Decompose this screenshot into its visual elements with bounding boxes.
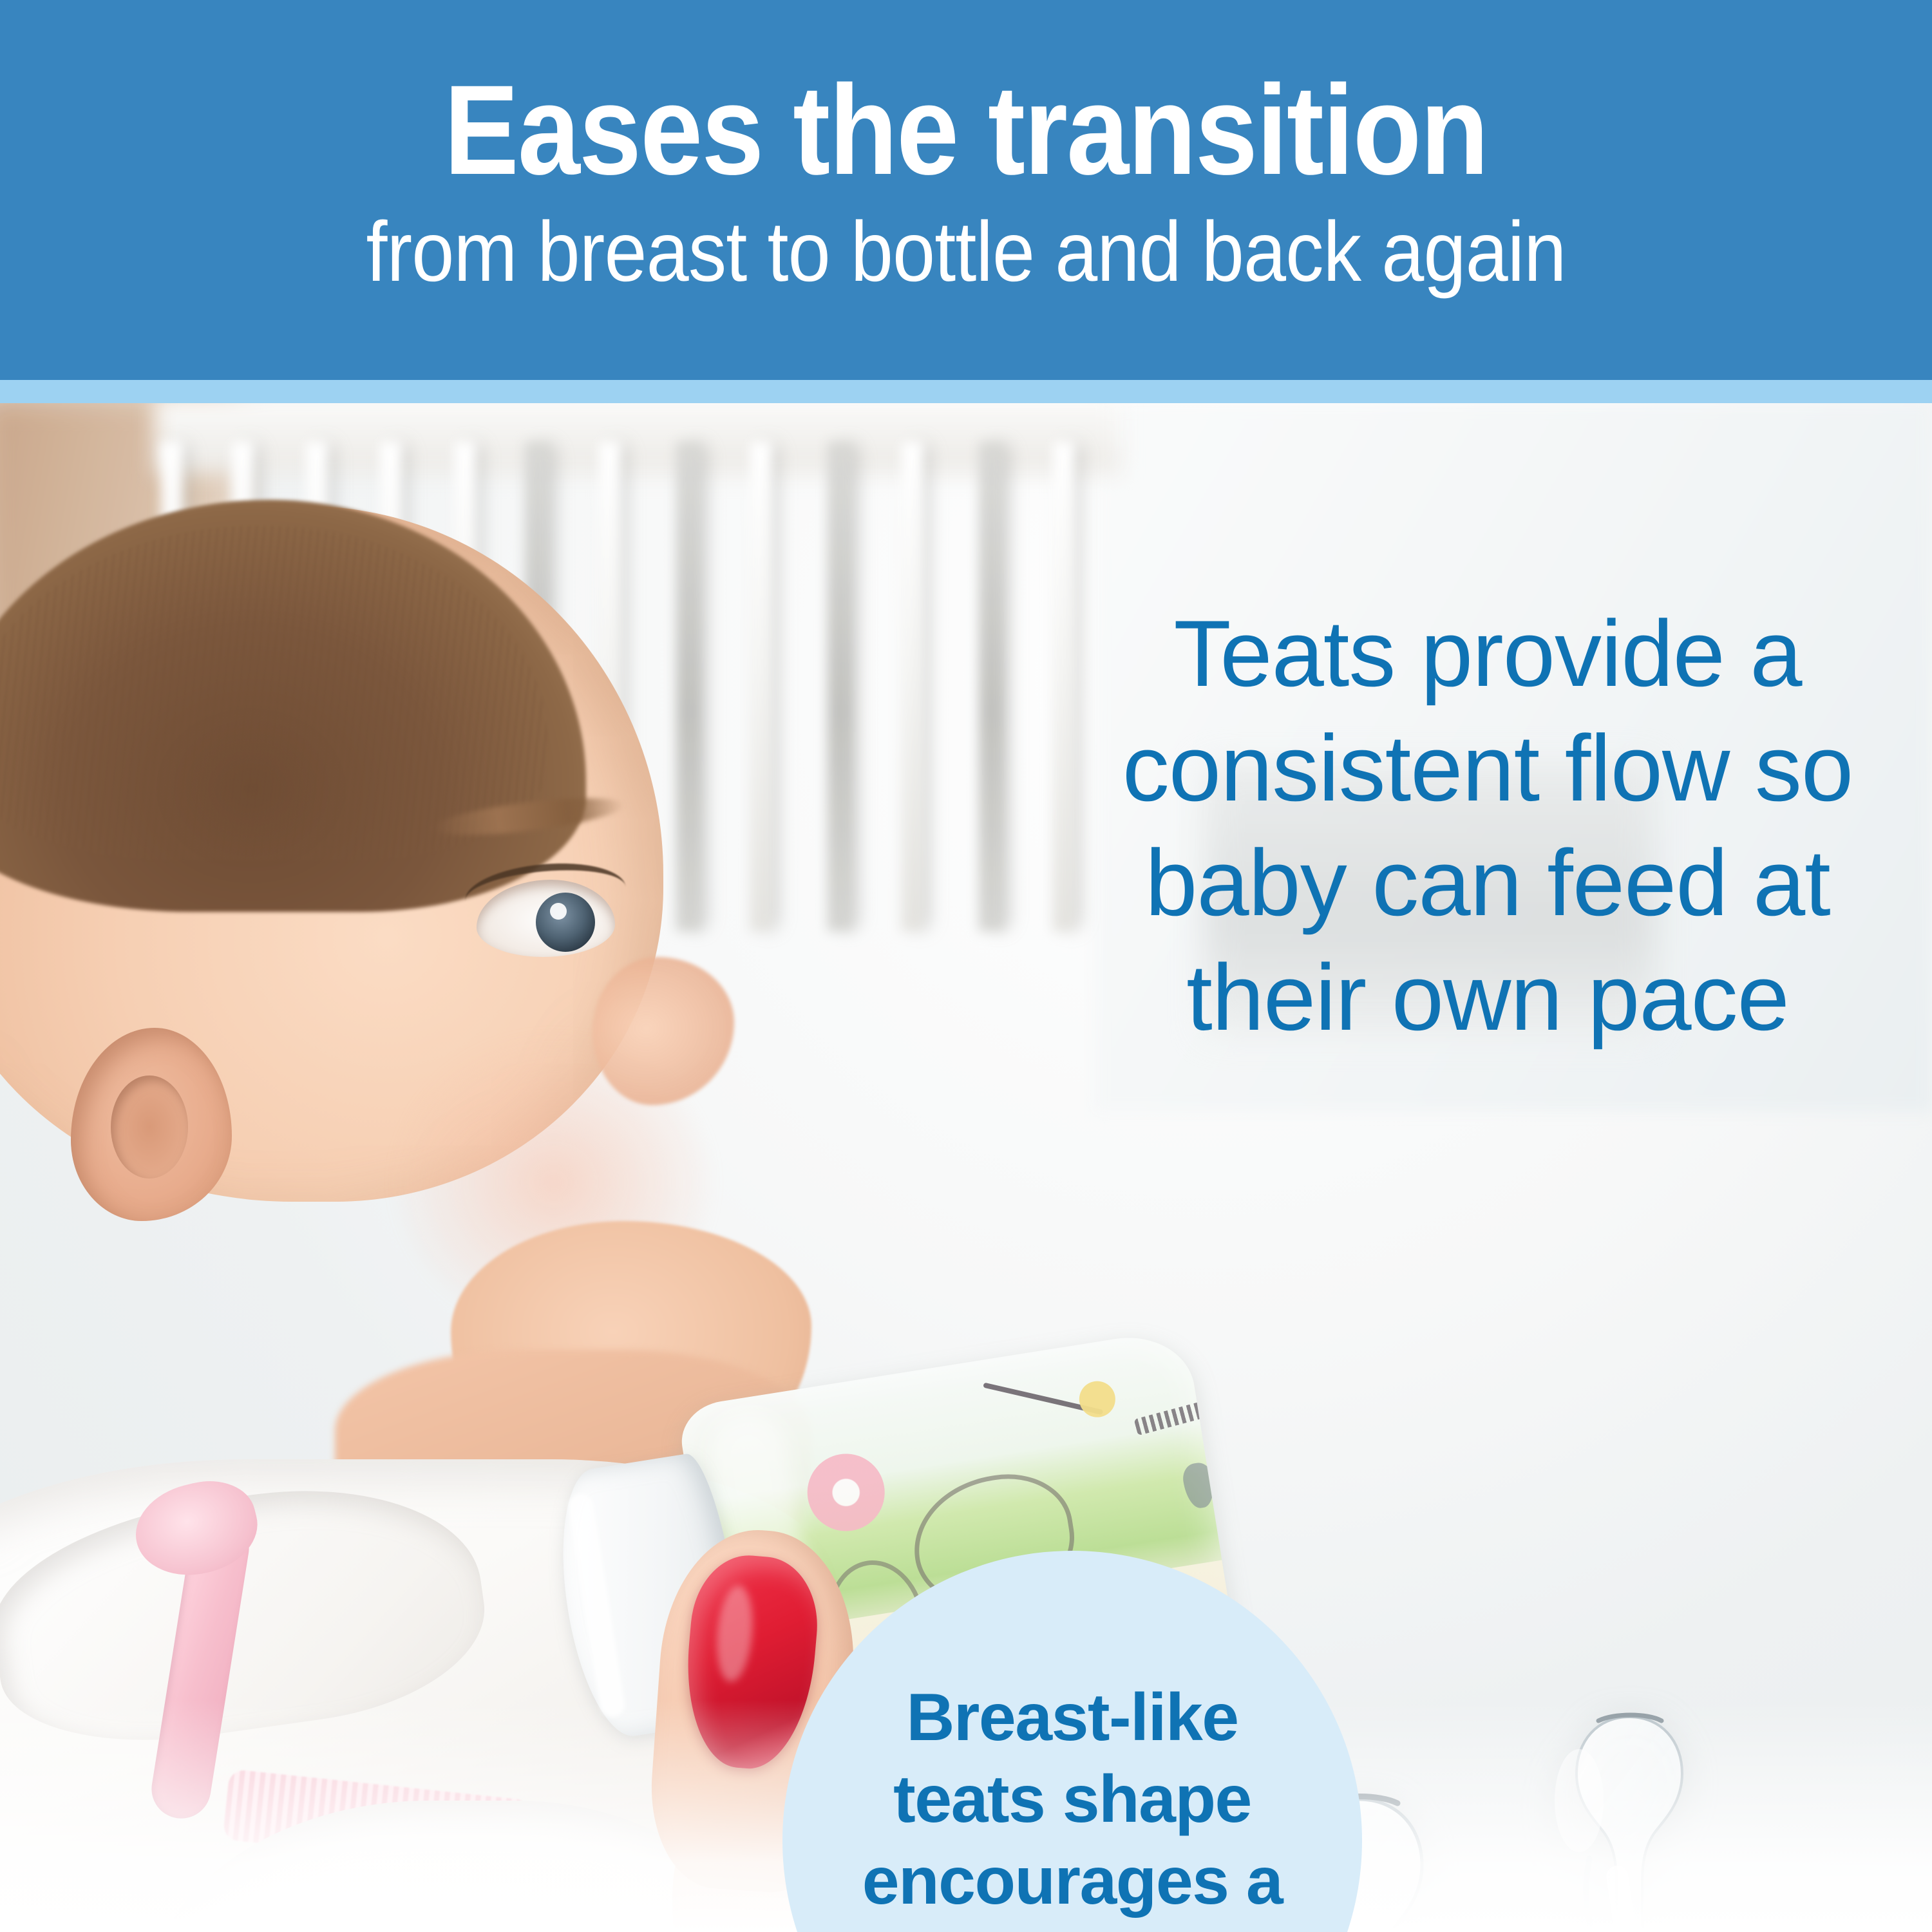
feature-copy-line: baby can feed at <box>1114 826 1861 940</box>
feature-copy-line: consistent flow so <box>1114 711 1861 826</box>
callout-line: Breast-like <box>862 1677 1283 1759</box>
headline-banner: Eases the transition from breast to bott… <box>0 0 1932 380</box>
accent-strip <box>0 380 1932 403</box>
page-title: Eases the transition <box>444 70 1488 191</box>
bottle-balloon-motif <box>1181 1461 1217 1510</box>
bottle-print-detail <box>1134 1394 1232 1435</box>
baby-iris <box>536 893 595 952</box>
bottle-flower-motif <box>802 1448 890 1537</box>
page-subtitle: from breast to bottle and back again <box>366 207 1566 297</box>
callout-line: teats shape <box>862 1759 1283 1841</box>
bottle-dot-motif <box>1077 1379 1118 1420</box>
feature-copy: Teats provide a consistent flow so baby … <box>1114 596 1861 1055</box>
feature-copy-line: their own pace <box>1114 940 1861 1055</box>
product-feature-poster: Eases the transition from breast to bott… <box>0 0 1932 1932</box>
callout-badge-text: Breast-like teats shape encourages a pro… <box>806 1677 1340 1932</box>
callout-line: encourages a <box>862 1841 1283 1922</box>
callout-line: proper latch <box>862 1922 1283 1932</box>
lifestyle-photo: 1 <box>0 403 1932 1932</box>
baby-nose <box>592 957 734 1105</box>
feature-copy-line: Teats provide a <box>1114 596 1861 711</box>
